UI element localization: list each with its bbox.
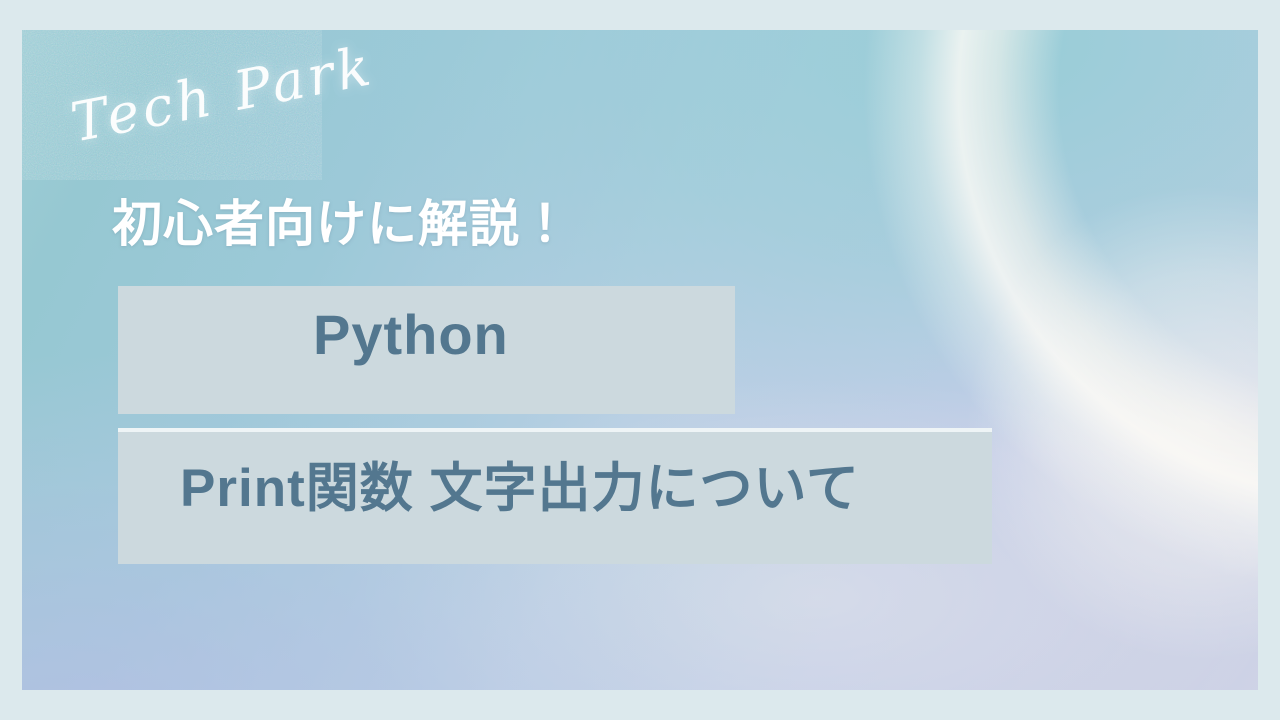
title-panel-secondary: Print関数 文字出力について — [118, 428, 992, 564]
title-panel-primary-label: Python — [313, 302, 509, 367]
thumbnail-canvas: Tech Park 初心者向けに解説！ Python Print関数 文字出力に… — [0, 0, 1280, 720]
title-panel-secondary-label: Print関数 文字出力について — [180, 446, 860, 522]
headline-text: 初心者向けに解説！ — [112, 198, 571, 251]
title-panel-primary: Python — [118, 286, 735, 414]
